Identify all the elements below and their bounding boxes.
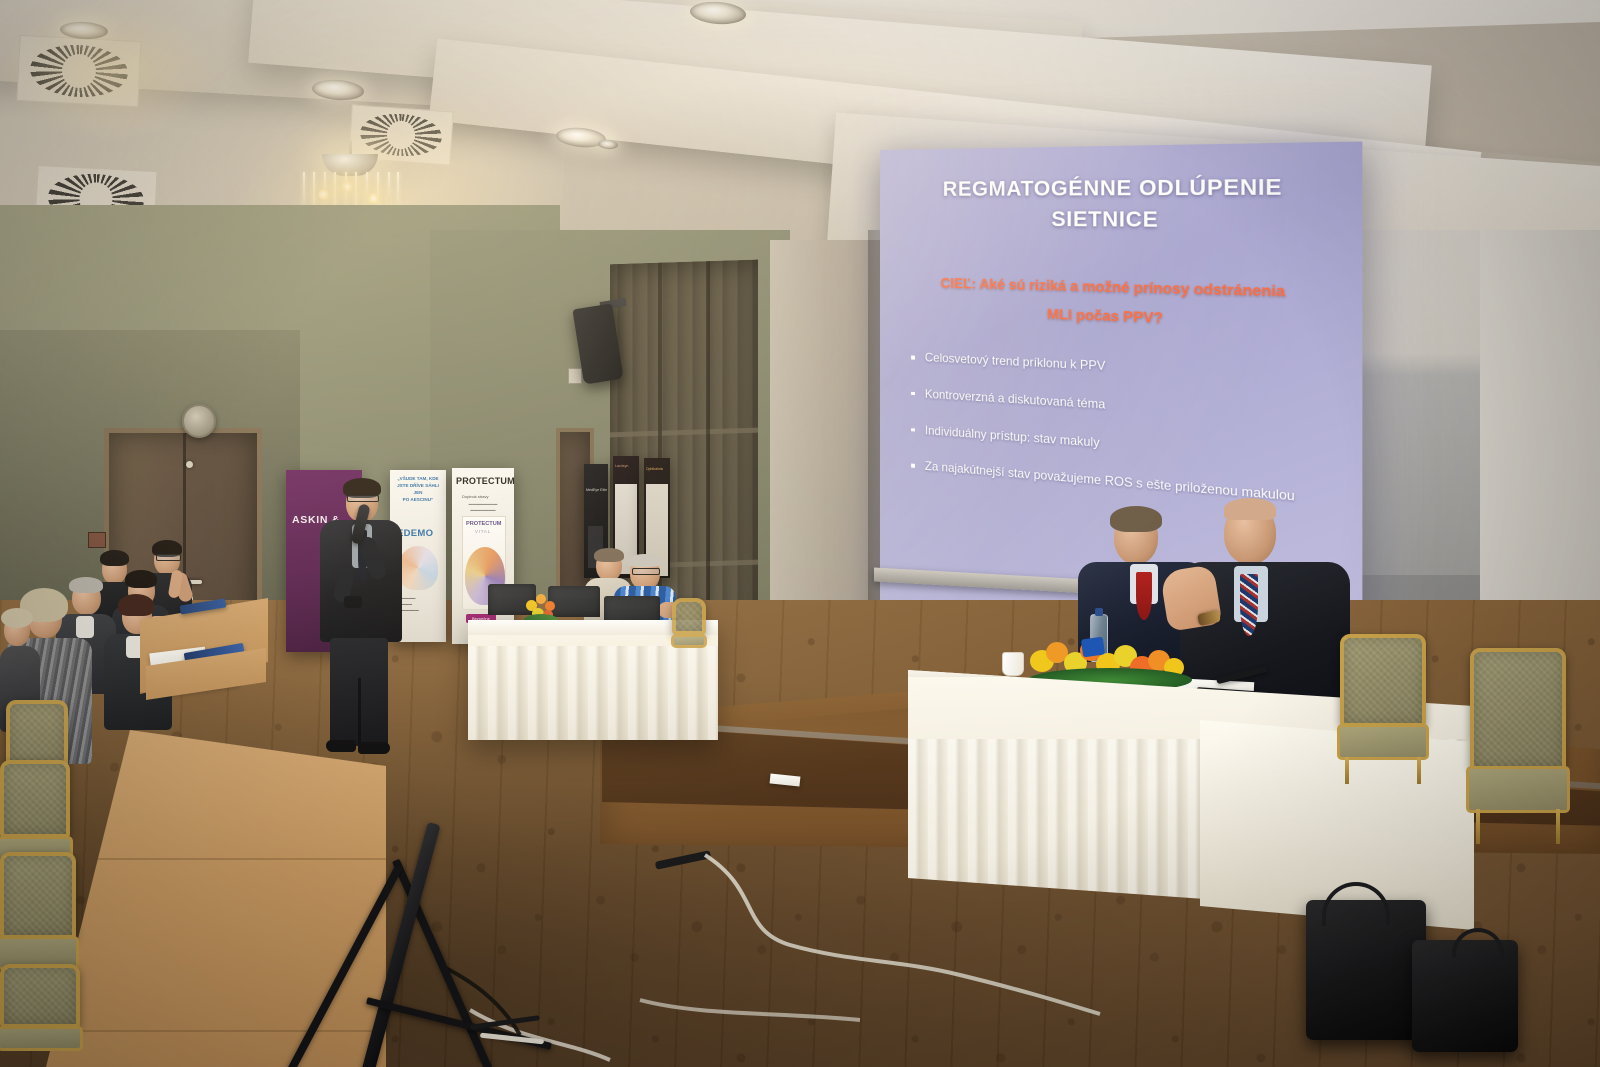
- wall-clock-icon: [182, 404, 216, 438]
- panelist-tie-striped: [1240, 574, 1258, 636]
- slide-goal-statement: CIEĽ: Aké sú riziká a možné prínosy odst…: [901, 268, 1334, 338]
- chair[interactable]: [1470, 648, 1566, 844]
- speaker-shoe: [358, 742, 390, 754]
- wall-sign-icon: [88, 532, 106, 548]
- banner-protectum-product: PROTECTUM: [466, 521, 501, 527]
- slide-bullet: Celosvetový trend príklonu k PPV: [911, 349, 1329, 387]
- panelist-hair: [1110, 506, 1162, 532]
- banner-protectum-body: ▬▬▬▬▬▬▬▬▬▬▬▬▬▬▬: [456, 501, 510, 513]
- poster-label: Lacrisyn: [615, 464, 628, 468]
- slide-bullet: Kontroverzná a diskutovaná téma: [911, 386, 1329, 429]
- technician-glasses-icon: [632, 568, 660, 575]
- banner-protectum-brand: PROTECTUM: [456, 476, 515, 486]
- speaker-shoe: [326, 740, 356, 752]
- wall-outlet-icon: [568, 368, 582, 384]
- poster-label: MedEye Elite: [586, 488, 607, 492]
- speaker-trouser-split: [358, 678, 361, 746]
- banner-protectum-tagline: Doplnok stravy: [462, 494, 488, 499]
- banner-protectum-product-sub: VITAL: [475, 529, 491, 534]
- poster-label: Ophthalmic: [646, 467, 663, 471]
- chair[interactable]: [672, 598, 706, 658]
- speaker-glasses-icon: [347, 495, 379, 502]
- presenter-clicker-icon: [344, 596, 362, 608]
- folded-monitor-stand[interactable]: [350, 800, 670, 1067]
- chair[interactable]: [1340, 634, 1426, 784]
- chair[interactable]: [0, 964, 80, 1067]
- air-vent-icon: [16, 35, 141, 107]
- conference-hall-photo: REGMATOGÉNNE ODLÚPENIE SIETNICE CIEĽ: Ak…: [0, 0, 1600, 1067]
- slide-title: REGMATOGÉNNE ODLÚPENIE SIETNICE: [901, 172, 1334, 238]
- panelist-tie-red: [1136, 572, 1152, 620]
- panelist-hair-bald: [1224, 498, 1276, 520]
- shoulder-bag[interactable]: [1306, 900, 1426, 1040]
- camera-bag[interactable]: [1412, 940, 1518, 1052]
- coffee-cup[interactable]: [1002, 652, 1024, 676]
- presenting-speaker: [314, 478, 406, 756]
- flower-ribbon: [1081, 637, 1105, 658]
- slide-bullet-list: Celosvetový trend príklonu k PPV Kontrov…: [901, 349, 1334, 511]
